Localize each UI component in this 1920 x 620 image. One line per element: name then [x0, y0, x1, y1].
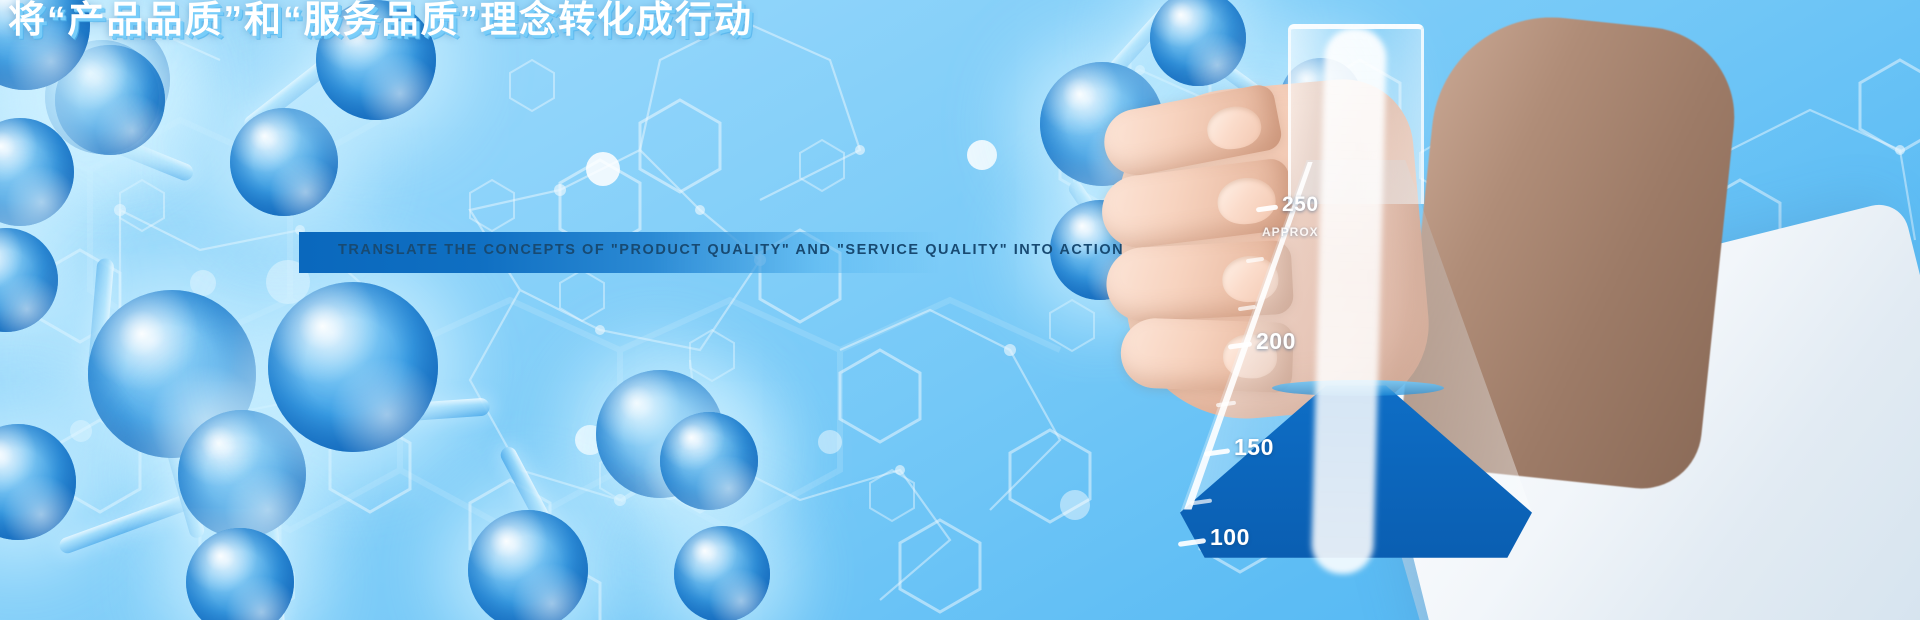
dot [818, 430, 842, 454]
page-subtitle: TRANSLATE THE CONCEPTS OF "PRODUCT QUALI… [338, 242, 1238, 258]
dot [252, 580, 286, 614]
flask-label-150: 150 [1234, 434, 1274, 461]
molecule-sphere [230, 108, 338, 216]
molecule-bond [498, 444, 564, 549]
dot [575, 425, 605, 455]
molecule-sphere [178, 410, 306, 538]
dot [967, 140, 997, 170]
molecule-sphere [88, 290, 256, 458]
molecule-bond [57, 489, 203, 555]
molecule-sphere [186, 528, 294, 620]
molecule-bond [163, 435, 206, 539]
molecule-bond [87, 258, 114, 379]
molecule-sphere [660, 412, 758, 510]
molecule-bond [258, 447, 286, 620]
molecule-sphere [674, 526, 770, 620]
molecule-sphere [0, 424, 76, 540]
dot [70, 420, 92, 442]
dot [700, 432, 724, 456]
molecule-sphere [45, 40, 159, 154]
dot [660, 480, 680, 500]
molecule-sphere [0, 228, 58, 332]
dot [200, 490, 218, 508]
molecule-bond [309, 397, 490, 428]
promo-banner: 250 APPROX 200 150 100 将“产品品质”和“服务品质”理念转… [0, 0, 1920, 620]
molecule-sphere [268, 282, 438, 452]
flask-label-approx: APPROX [1262, 225, 1319, 239]
dot [190, 270, 216, 296]
hand-holding-flask-photo: 250 APPROX 200 150 100 [1100, 0, 1920, 620]
molecule-sphere [468, 510, 588, 620]
flask-tick-250 [1256, 204, 1278, 212]
molecule-sphere [596, 370, 724, 498]
molecule-bond [69, 119, 196, 183]
molecule-sphere [0, 118, 74, 226]
dot [586, 152, 620, 186]
flask-label-250: 250 [1282, 193, 1319, 217]
flask-label-200: 200 [1256, 328, 1296, 355]
dot [1060, 490, 1090, 520]
page-title: 将“产品品质”和“服务品质”理念转化成行动 [8, 0, 753, 52]
flask-tick-minor-1 [1246, 257, 1264, 263]
molecule-sphere [55, 45, 165, 155]
erlenmeyer-flask: 250 APPROX 200 150 100 [1160, 10, 1580, 590]
flask-label-100: 100 [1210, 524, 1250, 551]
